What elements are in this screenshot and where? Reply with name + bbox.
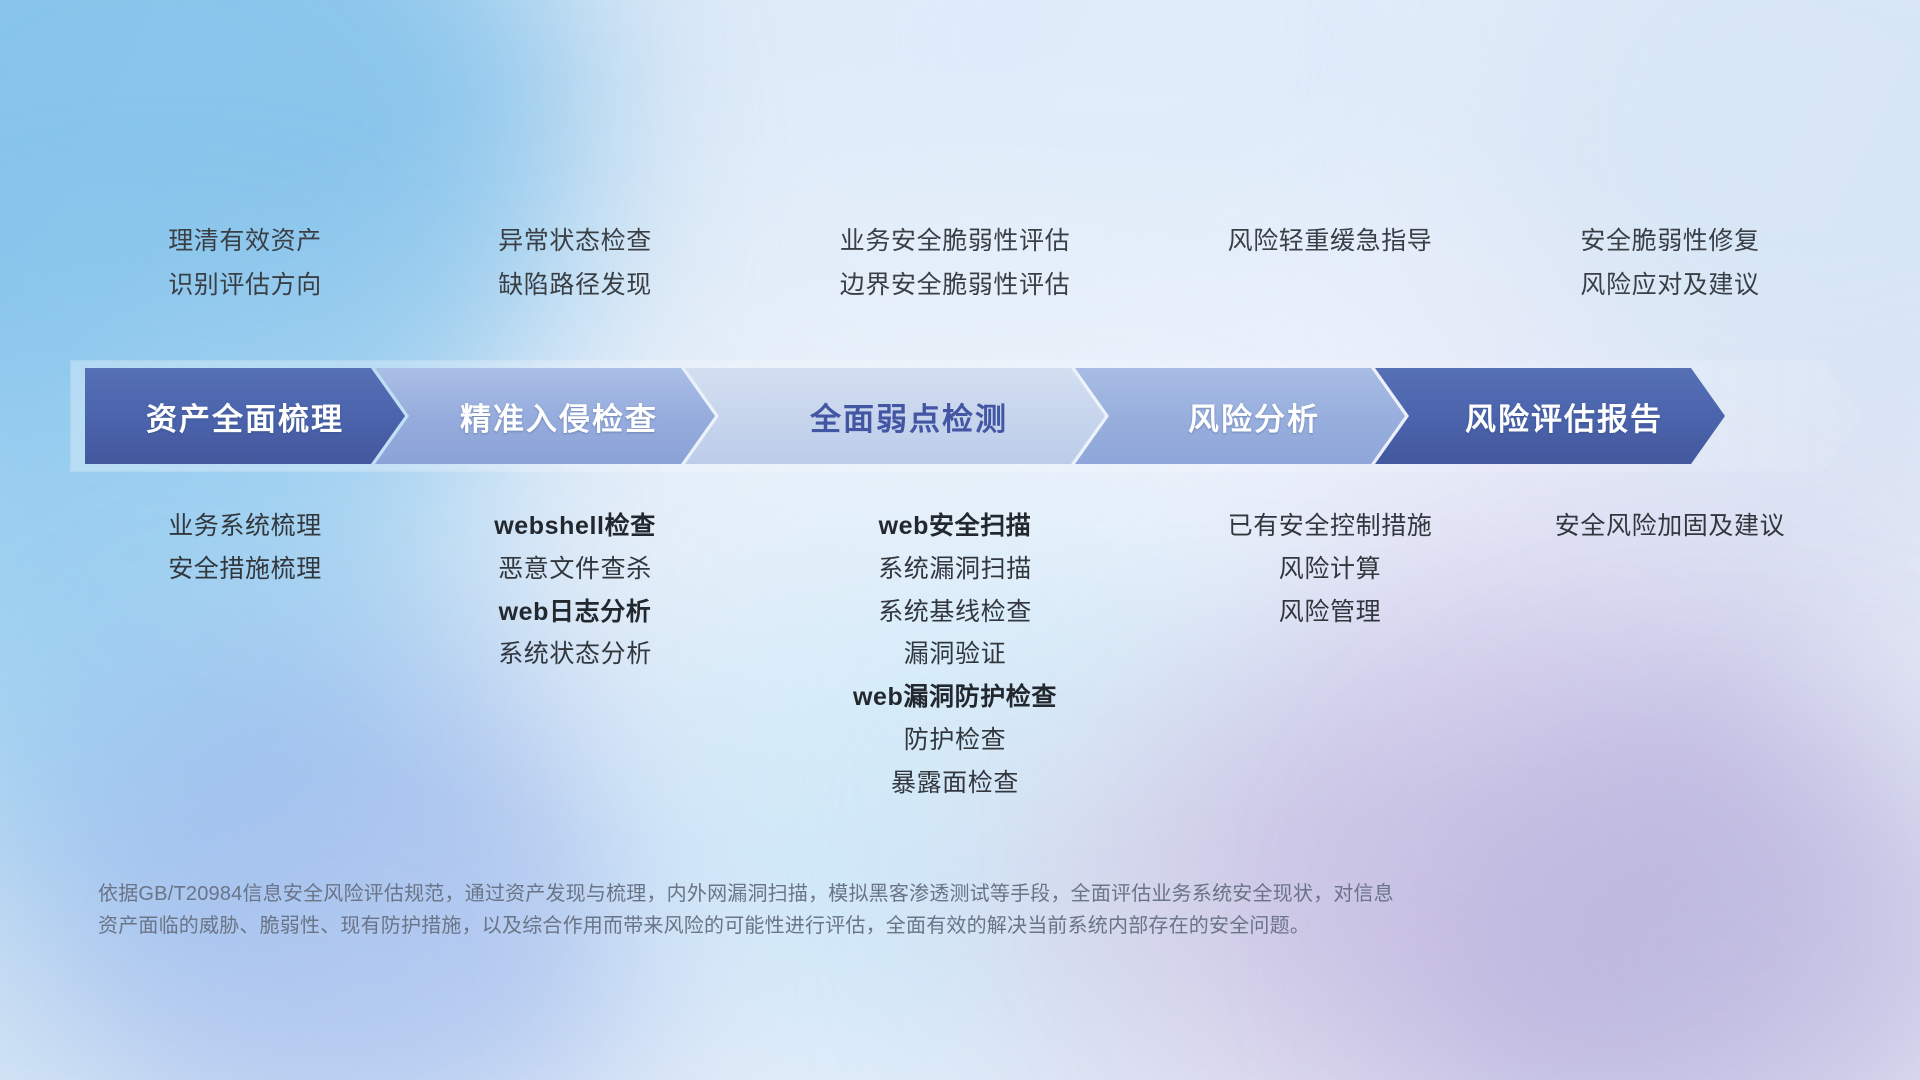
top-annotation-item: 缺陷路径发现 — [498, 272, 652, 300]
chevron-band: 资产全面梳理精准入侵检查全面弱点检测风险分析风险评估报告 — [85, 368, 1845, 464]
chevron-label: 资产全面梳理 — [146, 394, 344, 439]
bottom-annotation-item: webshell检查 — [494, 512, 656, 541]
bottom-annotations-stage-4: 已有安全控制措施风险计算风险管理 — [1165, 512, 1495, 626]
bottom-annotation-item: 系统状态分析 — [498, 640, 652, 669]
top-annotation-item: 识别评估方向 — [168, 272, 322, 300]
chevron-label: 风险评估报告 — [1465, 394, 1663, 439]
top-annotation-item: 边界安全脆弱性评估 — [840, 272, 1070, 300]
top-annotations-stage-4: 风险轻重缓急指导 — [1165, 228, 1495, 299]
chevron-label: 风险分析 — [1188, 394, 1320, 439]
bottom-annotation-item: 暴露面检查 — [891, 769, 1019, 798]
top-annotations-stage-3: 业务安全脆弱性评估边界安全脆弱性评估 — [745, 228, 1165, 299]
footer-line-1: 依据GB/T20984信息安全风险评估规范，通过资产发现与梳理，内外网漏洞扫描，… — [98, 878, 1738, 910]
bottom-annotation-item: web日志分析 — [499, 598, 652, 627]
bottom-annotations-stage-3: web安全扫描系统漏洞扫描系统基线检查漏洞验证web漏洞防护检查防护检查暴露面检… — [745, 512, 1165, 797]
bottom-annotation-item: 系统漏洞扫描 — [878, 555, 1032, 584]
chevron-stage-4[interactable]: 风险分析 — [1075, 368, 1405, 464]
bottom-annotation-item: 已有安全控制措施 — [1228, 512, 1433, 541]
chevron-stage-3[interactable]: 全面弱点检测 — [685, 368, 1105, 464]
top-annotation-row: 理清有效资产识别评估方向异常状态检查缺陷路径发现业务安全脆弱性评估边界安全脆弱性… — [85, 228, 1845, 299]
top-annotations-stage-5: 安全脆弱性修复风险应对及建议 — [1495, 228, 1845, 299]
chevron-stage-2[interactable]: 精准入侵检查 — [375, 368, 715, 464]
bottom-annotation-item: 安全风险加固及建议 — [1555, 512, 1785, 541]
bottom-annotations-stage-5: 安全风险加固及建议 — [1495, 512, 1845, 541]
bottom-annotation-item: 安全措施梳理 — [168, 555, 322, 584]
bottom-annotation-item: 防护检查 — [904, 726, 1006, 755]
chevron-stage-5[interactable]: 风险评估报告 — [1375, 368, 1725, 464]
bottom-annotation-item: web漏洞防护检查 — [853, 683, 1057, 712]
bottom-annotation-item: 系统基线检查 — [878, 598, 1032, 627]
top-annotation-item: 异常状态检查 — [498, 228, 652, 256]
top-annotations-stage-1: 理清有效资产识别评估方向 — [85, 228, 405, 299]
footer-description: 依据GB/T20984信息安全风险评估规范，通过资产发现与梳理，内外网漏洞扫描，… — [98, 878, 1738, 943]
chevron-label: 精准入侵检查 — [460, 394, 658, 439]
top-annotation-item: 安全脆弱性修复 — [1580, 228, 1759, 256]
bottom-annotation-item: 风险管理 — [1279, 598, 1381, 627]
footer-line-2: 资产面临的威胁、脆弱性、现有防护措施，以及综合作用而带来风险的可能性进行评估，全… — [98, 910, 1738, 942]
chevron-stage-1[interactable]: 资产全面梳理 — [85, 368, 405, 464]
top-annotation-item: 风险轻重缓急指导 — [1228, 228, 1433, 256]
top-annotations-stage-2: 异常状态检查缺陷路径发现 — [405, 228, 745, 299]
bottom-annotation-item: 业务系统梳理 — [168, 512, 322, 541]
chevron-label: 全面弱点检测 — [810, 394, 1008, 439]
bottom-annotation-row: 业务系统梳理安全措施梳理webshell检查恶意文件查杀web日志分析系统状态分… — [85, 512, 1845, 797]
bottom-annotation-item: web安全扫描 — [879, 512, 1032, 541]
bottom-annotations-stage-1: 业务系统梳理安全措施梳理 — [85, 512, 405, 584]
process-diagram: 理清有效资产识别评估方向异常状态检查缺陷路径发现业务安全脆弱性评估边界安全脆弱性… — [0, 0, 1920, 1080]
top-annotation-item: 理清有效资产 — [168, 228, 322, 256]
top-annotation-item: 业务安全脆弱性评估 — [840, 228, 1070, 256]
bottom-annotation-item: 恶意文件查杀 — [498, 555, 652, 584]
bottom-annotations-stage-2: webshell检查恶意文件查杀web日志分析系统状态分析 — [405, 512, 745, 669]
bottom-annotation-item: 漏洞验证 — [904, 640, 1006, 669]
top-annotation-item: 风险应对及建议 — [1580, 272, 1759, 300]
bottom-annotation-item: 风险计算 — [1279, 555, 1381, 584]
